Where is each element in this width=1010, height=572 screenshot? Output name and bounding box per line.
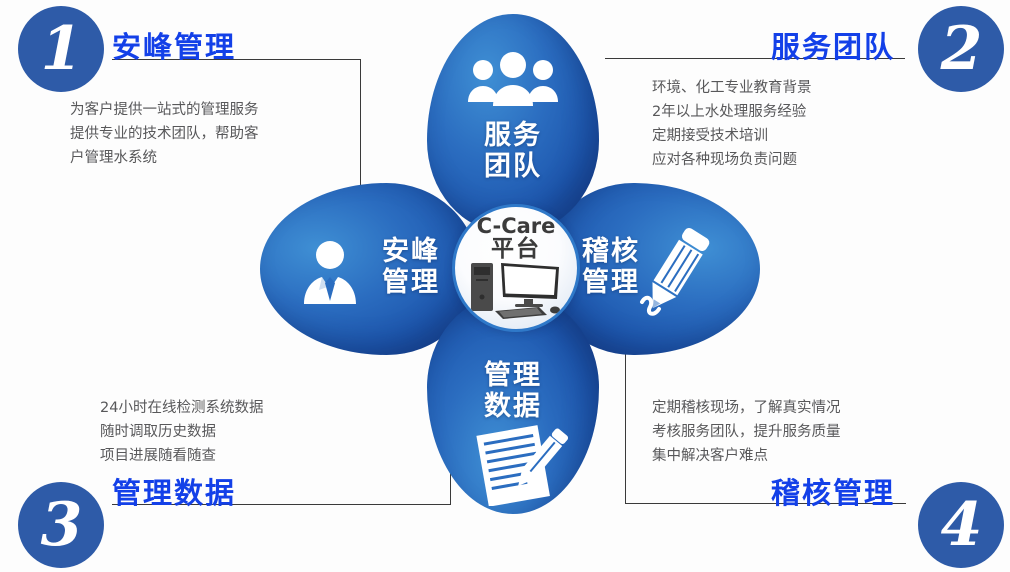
petal-diagram: 服务 团队 稽核 管理 管理 数据 安峰 管理 C-Care 平台: [252, 8, 792, 520]
number-badge-4: 4: [918, 482, 1004, 568]
infographic-canvas: 1 2 3 4 安峰管理 服务团队 管理数据 稽核管理 为客户提供一站式的管理服…: [0, 0, 1010, 572]
petal-label-management-data-line1: 管理: [427, 360, 599, 391]
section-body-1: 为客户提供一站式的管理服务 提供专业的技术团队，帮助客 户管理水系统: [70, 98, 259, 170]
section-body-1-line-2: 提供专业的技术团队，帮助客: [70, 122, 259, 146]
petal-label-audit-management-line2: 管理: [572, 267, 650, 298]
section-body-3-line-1: 24小时在线检测系统数据: [100, 396, 263, 420]
petal-label-service-team-line1: 服务: [427, 120, 599, 151]
document-pencil-icon: [474, 422, 574, 506]
petal-label-anfeng-management: 安峰 管理: [372, 236, 450, 298]
number-badge-3: 3: [18, 482, 104, 568]
number-badge-2: 2: [918, 6, 1004, 92]
people-group-icon: [467, 52, 559, 110]
section-body-3-line-2: 随时调取历史数据: [100, 420, 263, 444]
section-body-1-line-3: 户管理水系统: [70, 146, 259, 170]
petal-label-service-team-line2: 团队: [427, 151, 599, 182]
petal-label-audit-management: 稽核 管理: [572, 236, 650, 298]
center-hub-c-care-platform[interactable]: C-Care 平台: [452, 204, 580, 332]
petal-label-anfeng-management-line2: 管理: [372, 267, 450, 298]
hub-title: C-Care: [455, 215, 577, 237]
petal-label-audit-management-line1: 稽核: [572, 236, 650, 267]
section-title-3: 管理数据: [112, 470, 236, 512]
desktop-computer-icon: [469, 259, 563, 321]
petal-label-management-data-line2: 数据: [427, 391, 599, 422]
section-body-3-line-3: 项目进展随看随查: [100, 444, 263, 468]
number-badge-1: 1: [18, 6, 104, 92]
petal-label-management-data: 管理 数据: [427, 360, 599, 422]
section-title-1: 安峰管理: [112, 24, 236, 66]
section-body-1-line-1: 为客户提供一站式的管理服务: [70, 98, 259, 122]
section-body-3: 24小时在线检测系统数据 随时调取历史数据 项目进展随看随查: [100, 396, 263, 468]
petal-label-service-team: 服务 团队: [427, 120, 599, 182]
petal-label-anfeng-management-line1: 安峰: [372, 236, 450, 267]
businessman-icon: [294, 236, 366, 308]
hub-subtitle: 平台: [455, 237, 577, 261]
